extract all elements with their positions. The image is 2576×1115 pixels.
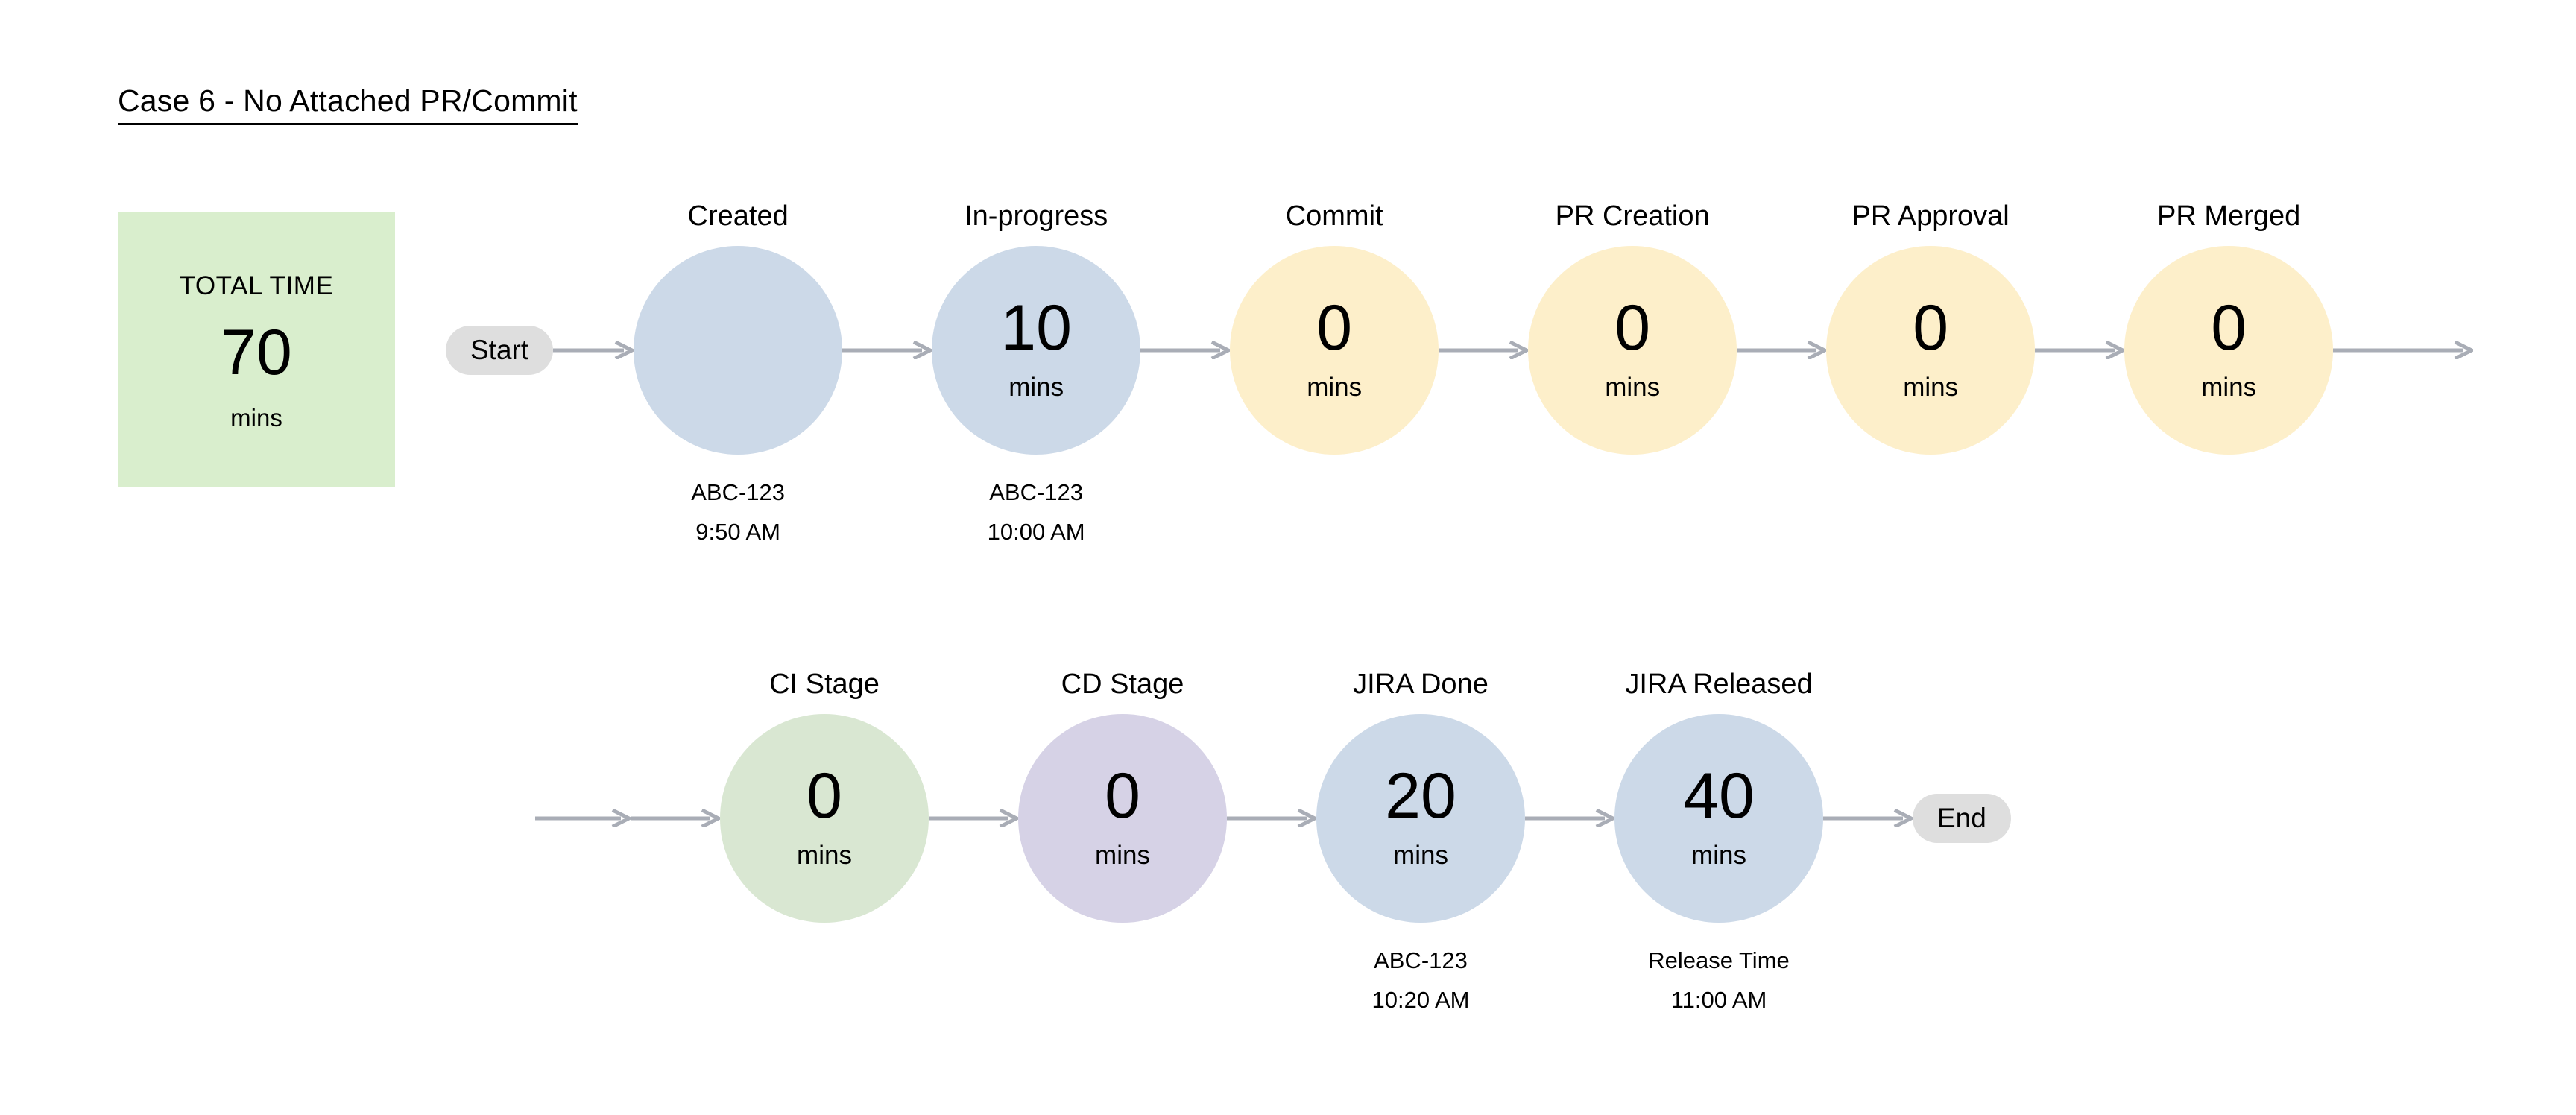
stage-meta: ABC-1239:50 AM [691,473,785,552]
stage-circle[interactable]: 0mins [2124,246,2333,455]
total-time-value: 70 [221,320,292,385]
stage-circle[interactable]: 20mins [1316,714,1525,923]
stage-circle[interactable]: 0mins [1528,246,1737,455]
stage-unit: mins [797,841,852,871]
connector-arrow [2035,341,2124,359]
stage-label: JIRA Released [1625,669,1812,701]
stage-label: CI Stage [769,669,880,701]
connector-arrow [631,809,720,827]
stage-label: PR Merged [2157,200,2300,233]
stage-meta-ref: ABC-123 [1372,941,1470,980]
end-node[interactable]: End [1913,794,2011,844]
stage-label: PR Creation [1556,200,1710,233]
stage-unit: mins [2201,373,2256,402]
stage-meta-time: 10:00 AM [988,512,1085,552]
stage-meta-time: 10:20 AM [1372,980,1470,1020]
stage-meta: ABC-12310:20 AM [1372,941,1470,1020]
workflow-row-1: Start CreatedABC-1239:50 AMIn-progress10… [446,246,2473,455]
stage-node-commit[interactable]: Commit0mins [1230,246,1439,455]
stage-circle[interactable]: 0mins [720,714,929,923]
stage-value: 10 [1000,298,1072,359]
start-node[interactable]: Start [446,326,553,376]
stage-value: 0 [1316,298,1352,359]
stage-label: JIRA Done [1353,669,1489,701]
stage-label: Commit [1286,200,1383,233]
stage-circle[interactable]: 0mins [1018,714,1227,923]
stage-node-jira-done[interactable]: JIRA Done20minsABC-12310:20 AM [1316,714,1525,923]
stage-meta-time: 9:50 AM [691,512,785,552]
connector-arrow-outgoing [2333,341,2473,359]
stage-value: 40 [1683,766,1755,827]
stage-unit: mins [1903,373,1958,402]
total-time-unit: mins [230,404,282,432]
stage-value: 0 [2211,298,2247,359]
stage-label: CD Stage [1061,669,1184,701]
stage-node-pr-merged[interactable]: PR Merged0mins [2124,246,2333,455]
stage-meta-time: 11:00 AM [1648,980,1790,1020]
connector-arrow [842,341,932,359]
stage-circle[interactable]: 0mins [1826,246,2035,455]
connector-arrow [1140,341,1230,359]
connector-arrow [1823,809,1913,827]
stage-node-created[interactable]: CreatedABC-1239:50 AM [634,246,842,455]
stage-node-pr-creation[interactable]: PR Creation0mins [1528,246,1737,455]
stage-node-pr-approval[interactable]: PR Approval0mins [1826,246,2035,455]
stage-value: 0 [1913,298,1948,359]
stage-value: 20 [1385,766,1456,827]
stage-meta-ref: Release Time [1648,941,1790,980]
stage-circle[interactable]: 10mins [932,246,1140,455]
page-title-text: Case 6 - No Attached PR/Commit [118,83,578,125]
stage-unit: mins [1605,373,1660,402]
page-title: Case 6 - No Attached PR/Commit [118,83,578,119]
connector-arrow [1227,809,1316,827]
stage-unit: mins [1008,373,1064,402]
total-time-label: TOTAL TIME [180,271,334,301]
stage-label: Created [688,200,789,233]
workflow-row-2: CI Stage0minsCD Stage0minsJIRA Done20min… [535,714,2011,923]
stage-node-jira-released[interactable]: JIRA Released40minsRelease Time11:00 AM [1614,714,1823,923]
connector-arrow [1439,341,1528,359]
stage-meta-ref: ABC-123 [691,473,785,512]
stage-meta: ABC-12310:00 AM [988,473,1085,552]
stage-meta-ref: ABC-123 [988,473,1085,512]
connector-arrow-incoming [535,809,631,827]
stage-node-in-progress[interactable]: In-progress10minsABC-12310:00 AM [932,246,1140,455]
connector-arrow [929,809,1018,827]
connector-arrow [1737,341,1826,359]
stage-circle[interactable]: 40mins [1614,714,1823,923]
connector-arrow [553,341,634,359]
stage-value: 0 [1105,766,1140,827]
stage-label: PR Approval [1852,200,2010,233]
stage-value: 0 [806,766,842,827]
stage-node-ci-stage[interactable]: CI Stage0mins [720,714,929,923]
stage-node-cd-stage[interactable]: CD Stage0mins [1018,714,1227,923]
stage-unit: mins [1393,841,1448,871]
stage-circle[interactable] [634,246,842,455]
stage-label: In-progress [965,200,1108,233]
stage-meta: Release Time11:00 AM [1648,941,1790,1020]
stage-unit: mins [1095,841,1150,871]
stage-circle[interactable]: 0mins [1230,246,1439,455]
stage-value: 0 [1614,298,1650,359]
stage-unit: mins [1307,373,1362,402]
total-time-card: TOTAL TIME 70 mins [118,212,395,487]
connector-arrow [1525,809,1614,827]
stage-unit: mins [1691,841,1746,871]
